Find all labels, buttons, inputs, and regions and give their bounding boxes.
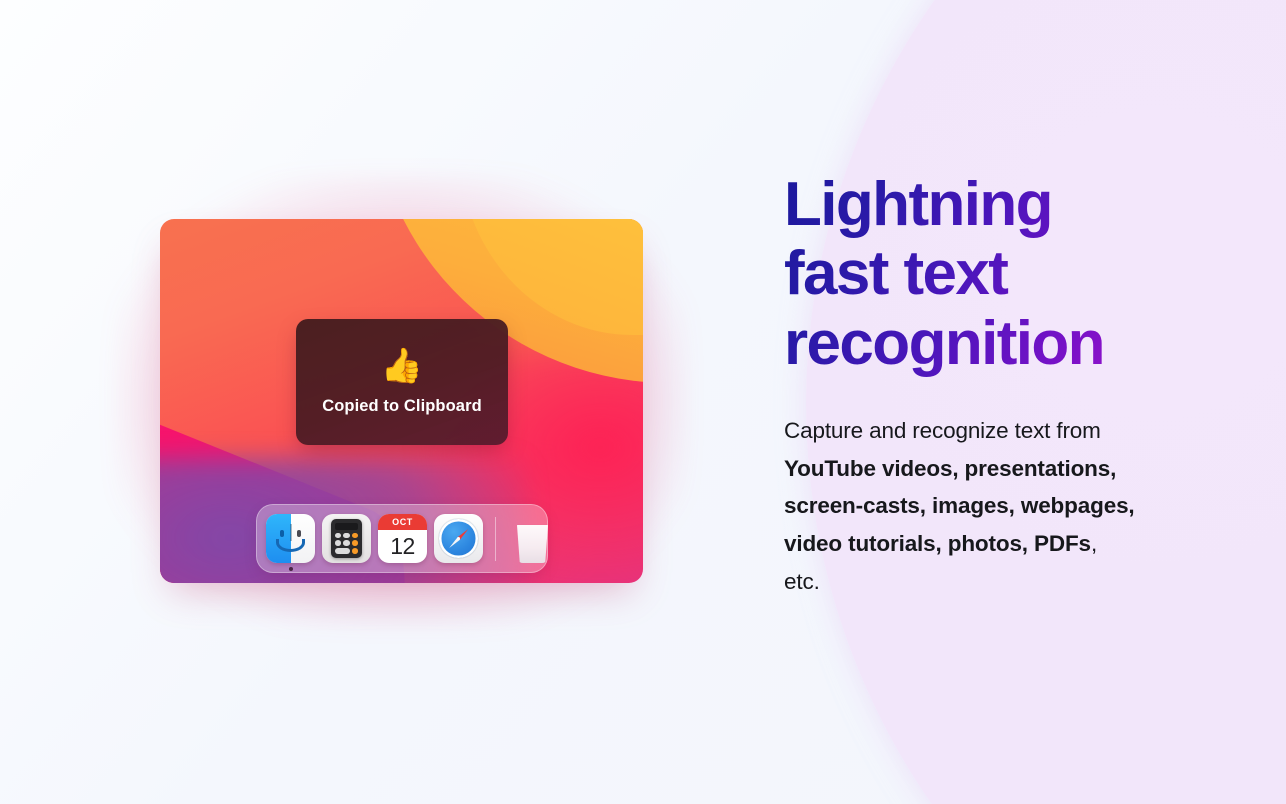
calculator-icon-keypad: [335, 533, 357, 554]
macos-dock: OCT 12: [256, 504, 548, 573]
trash-icon: [508, 514, 557, 563]
dock-item-finder[interactable]: [266, 514, 315, 563]
finder-icon-eye-right: [297, 530, 301, 537]
calculator-key: [343, 533, 349, 539]
finder-running-indicator: [289, 567, 293, 571]
finder-icon-smile: [276, 539, 305, 552]
description-lead: Capture and recognize text from: [784, 418, 1101, 443]
calculator-key: [335, 540, 341, 546]
safari-icon: [434, 514, 483, 563]
trash-icon-bin: [515, 525, 550, 563]
calculator-icon-display: [335, 523, 357, 530]
dock-item-safari[interactable]: [434, 514, 483, 563]
calculator-key: [335, 533, 341, 539]
marketing-copy: Lightning fast text recognition Capture …: [784, 170, 1164, 600]
dock-item-calculator[interactable]: [322, 514, 371, 563]
calculator-icon: [322, 514, 371, 563]
calculator-icon-body: [331, 519, 361, 557]
finder-icon-eye-left: [280, 530, 284, 537]
calculator-key-orange: [352, 540, 358, 546]
calculator-key-orange: [352, 548, 358, 554]
dock-item-calendar[interactable]: OCT 12: [378, 514, 427, 563]
safari-icon-hub: [457, 537, 460, 540]
macos-preview-stage: 👍 Copied to Clipboard: [160, 219, 643, 583]
description-strong: YouTube videos, presentations, screen-ca…: [784, 456, 1135, 556]
calendar-icon-month: OCT: [378, 514, 427, 530]
calculator-key-wide: [335, 548, 349, 554]
calculator-key: [343, 540, 349, 546]
finder-icon: [266, 514, 315, 563]
calendar-icon: OCT 12: [378, 514, 427, 563]
calendar-icon-day: 12: [378, 530, 427, 563]
dock-item-trash[interactable]: [508, 514, 557, 563]
macos-desktop-window: 👍 Copied to Clipboard: [160, 219, 643, 583]
page-title: Lightning fast text recognition: [784, 170, 1164, 378]
notification-label: Copied to Clipboard: [322, 397, 482, 416]
safari-icon-dial: [439, 519, 477, 557]
copied-to-clipboard-notification: 👍 Copied to Clipboard: [296, 319, 508, 445]
dock-divider: [495, 517, 496, 561]
thumbs-up-emoji: 👍: [381, 349, 423, 383]
page-description: Capture and recognize text from YouTube …: [784, 412, 1136, 600]
calculator-key-orange: [352, 533, 358, 539]
